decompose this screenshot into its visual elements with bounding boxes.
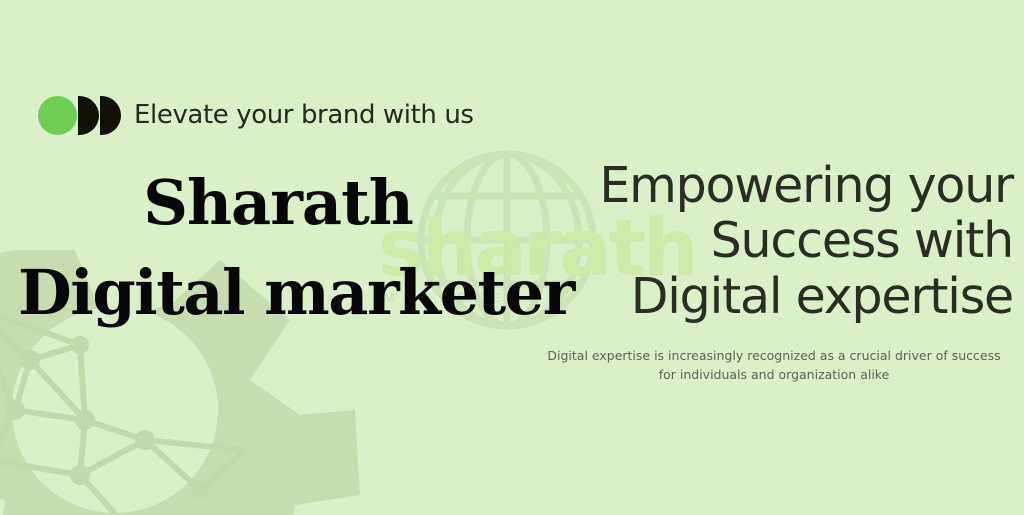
logo-d-shape-2-icon — [100, 96, 121, 135]
right-subtext-line-1: Digital expertise is increasingly recogn… — [535, 346, 1013, 365]
promo-banner: sharath MARKETER Elevate your brand with… — [0, 0, 1024, 515]
left-headline-block: Sharath Digital marketer — [18, 172, 538, 324]
person-role: Digital marketer — [18, 262, 538, 324]
right-headline-line-1: Empowering your — [535, 158, 1013, 213]
logo-d-shape-1-icon — [78, 96, 99, 135]
right-subtext: Digital expertise is increasingly recogn… — [535, 346, 1013, 385]
person-name: Sharath — [18, 172, 538, 234]
right-headline-line-3: Digital expertise — [535, 269, 1013, 324]
brand-logo-row: Elevate your brand with us — [38, 92, 474, 138]
right-content-block: Empowering your Success with Digital exp… — [535, 158, 1013, 385]
right-subtext-line-2: for individuals and organization alike — [535, 365, 1013, 384]
brand-tagline: Elevate your brand with us — [134, 100, 474, 130]
logo-mark-icon — [38, 95, 121, 135]
network-mesh-graphic — [0, 300, 260, 515]
logo-circle-icon — [38, 96, 77, 135]
right-headline: Empowering your Success with Digital exp… — [535, 158, 1013, 324]
right-headline-line-2: Success with — [535, 213, 1013, 268]
